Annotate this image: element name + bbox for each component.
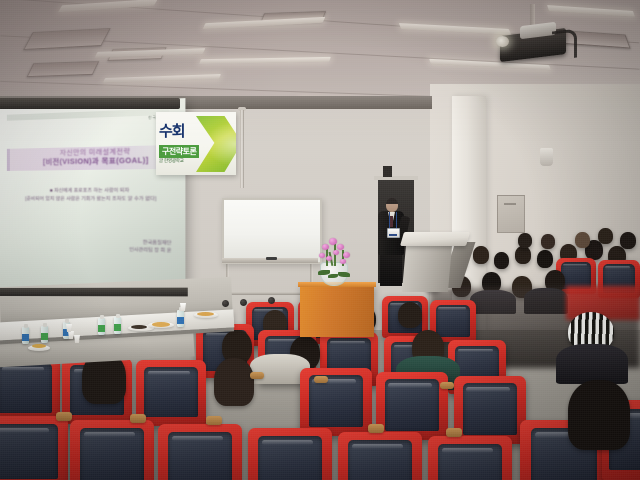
seat-armrest [206, 416, 222, 425]
presenter-name-badge [387, 228, 400, 238]
projector-mount [530, 4, 535, 30]
whiteboard-caster [268, 297, 275, 304]
presenter-legs [380, 252, 402, 286]
audience-head [575, 232, 590, 248]
water-bottle [41, 326, 48, 343]
banner-pole [240, 110, 244, 188]
audience-head [541, 234, 555, 249]
banner-boxed-text: 구전략토론 [159, 145, 199, 158]
auditorium-seat[interactable] [158, 424, 242, 480]
snack-food [32, 344, 46, 348]
seat-armrest [250, 372, 264, 379]
whiteboard-marker [266, 257, 277, 260]
audience-head [398, 302, 422, 328]
whiteboard-caster [222, 300, 229, 307]
water-bottle [98, 318, 105, 335]
wall-access-panel [497, 195, 525, 233]
auditorium-seat[interactable] [338, 432, 422, 480]
auditorium-seat[interactable] [454, 376, 526, 444]
seat-armrest [130, 414, 146, 423]
slide-footer: 한국품질재단 인사관리팀 장 희 윤 [58, 236, 172, 255]
seat-armrest [440, 382, 454, 389]
projector-cable [552, 29, 577, 61]
projector-top-panel [520, 22, 556, 39]
water-bottle [114, 317, 121, 334]
striped-beanie-shoulders [556, 344, 628, 384]
audience-head [518, 233, 532, 248]
projection-screen-case [0, 98, 180, 109]
audience-head [620, 232, 636, 249]
presenter-head [386, 198, 398, 212]
auditorium-seat[interactable] [300, 368, 372, 436]
snack-food [152, 322, 170, 327]
event-banner: 수회 구전략토론 글 한영광학교 [156, 112, 236, 175]
water-bottle [177, 310, 184, 327]
banner-subtext: 글 한영광학교 [159, 158, 184, 164]
wall-sign [383, 166, 392, 177]
audience-head [473, 246, 489, 264]
air-vent [107, 47, 166, 61]
auditorium-seat[interactable] [70, 420, 154, 480]
projector [500, 24, 574, 58]
air-vent [260, 11, 326, 24]
snack-food [131, 325, 147, 329]
auditorium-seat[interactable] [0, 416, 68, 480]
door-header [374, 176, 418, 180]
auditorium-seat[interactable] [136, 360, 206, 426]
audience-head [598, 228, 613, 244]
seat-armrest [446, 428, 462, 437]
ceiling-light [399, 23, 511, 35]
water-bottle [22, 327, 29, 344]
air-vent [23, 28, 111, 50]
orange-cabinet [300, 285, 374, 337]
slide-body: ■ 자신에게 프로포즈 하는 사람이 되자 [준비되어 있지 않은 사람은 기회… [10, 186, 173, 201]
presenter-lanyard [389, 212, 397, 228]
seat-armrest [368, 424, 384, 433]
podium-top [400, 232, 470, 246]
air-vent [553, 29, 630, 48]
auditorium-seat[interactable] [248, 428, 332, 480]
ceiling-light [547, 5, 635, 17]
slide-header-bar [7, 109, 170, 121]
ceiling-light [58, 0, 158, 12]
wall-speaker-icon [540, 148, 553, 166]
lecture-hall-photo: 한국표준협회 자신만의 미래설계전략 [비전(VISION)과 목표(GOAL)… [0, 0, 640, 480]
ceiling-light [203, 17, 326, 29]
projection-screen-weight-bar [0, 288, 188, 297]
audience-head [537, 250, 553, 268]
auditorium-seat[interactable] [428, 436, 512, 480]
podium-body [402, 244, 452, 292]
audience-head [515, 246, 531, 264]
slide-body-line2: [준비되어 있지 않은 사람은 기회가 왔는지 조차도 알 수가 없다] [10, 194, 173, 202]
air-vent [27, 61, 100, 77]
seat-armrest [314, 376, 328, 383]
ceiling-light [103, 74, 221, 83]
ceiling-light [429, 59, 551, 70]
projector-body [500, 28, 566, 62]
banner-headline: 수회 [159, 124, 185, 139]
whiteboard [222, 198, 322, 264]
audience-head [568, 380, 630, 450]
ceiling-light [95, 48, 206, 58]
audience-head [214, 358, 254, 406]
projector-lens [496, 36, 509, 47]
snack-food [197, 312, 214, 316]
auditorium-seat[interactable] [376, 372, 448, 440]
seat-armrest [56, 412, 72, 421]
slide-footer-line2: 인사관리팀 장 희 윤 [58, 244, 172, 255]
banner-chevron-graphic [196, 116, 236, 172]
whiteboard-caster [240, 299, 247, 306]
audience-head [494, 252, 509, 269]
ceiling-light [199, 57, 331, 64]
